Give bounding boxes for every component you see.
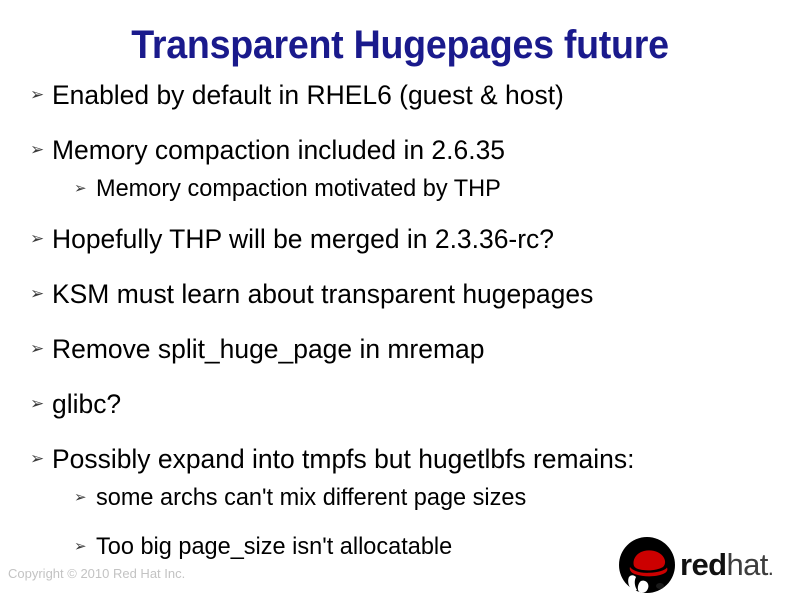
bullet-marker-icon: ➢: [30, 224, 44, 254]
slide: Transparent Hugepages future ➢ Enabled b…: [0, 0, 800, 600]
bullet-marker-icon: ➢: [30, 389, 44, 419]
bullet-text: glibc?: [52, 389, 121, 419]
red-hat-logo: redhat.: [616, 536, 792, 596]
wordmark-hat: hat: [726, 547, 767, 582]
bullet-text: Enabled by default in RHEL6 (guest & hos…: [52, 80, 564, 110]
wordmark-trademark-dot: .: [768, 555, 774, 580]
red-hat-wordmark: redhat.: [680, 548, 773, 585]
bullet-marker-icon: ➢: [74, 484, 87, 511]
sub-bullet-item: ➢ Memory compaction motivated by THP: [0, 175, 800, 202]
bullet-item: ➢ Enabled by default in RHEL6 (guest & h…: [0, 80, 800, 110]
bullet-item: ➢ Memory compaction included in 2.6.35: [0, 135, 800, 165]
bullet-item: ➢ KSM must learn about transparent hugep…: [0, 279, 800, 309]
bullet-text: Memory compaction motivated by THP: [96, 175, 501, 202]
bullet-marker-icon: ➢: [74, 533, 87, 560]
bullet-marker-icon: ➢: [30, 444, 44, 474]
bullet-marker-icon: ➢: [30, 279, 44, 309]
sub-bullet-item: ➢ some archs can't mix different page si…: [0, 484, 800, 511]
bullet-text: Too big page_size isn't allocatable: [96, 533, 452, 560]
bullet-text: Remove split_huge_page in mremap: [52, 334, 484, 364]
red-hat-shadowman-icon: [616, 536, 678, 596]
bullet-text: KSM must learn about transparent hugepag…: [52, 279, 593, 309]
bullet-item: ➢ Possibly expand into tmpfs but hugetlb…: [0, 444, 800, 474]
bullet-item: ➢ Remove split_huge_page in mremap: [0, 334, 800, 364]
bullet-text: Possibly expand into tmpfs but hugetlbfs…: [52, 444, 634, 474]
bullet-text: Hopefully THP will be merged in 2.3.36-r…: [52, 224, 554, 254]
bullet-item: ➢ glibc?: [0, 389, 800, 419]
bullet-marker-icon: ➢: [74, 175, 87, 202]
bullet-marker-icon: ➢: [30, 135, 44, 165]
page-title: Transparent Hugepages future: [24, 22, 776, 68]
bullet-text: Memory compaction included in 2.6.35: [52, 135, 505, 165]
bullet-marker-icon: ➢: [30, 80, 44, 110]
bullet-text: some archs can't mix different page size…: [96, 484, 526, 511]
bullet-marker-icon: ➢: [30, 334, 44, 364]
bullet-item: ➢ Hopefully THP will be merged in 2.3.36…: [0, 224, 800, 254]
copyright-notice: Copyright © 2010 Red Hat Inc.: [8, 566, 185, 582]
wordmark-red: red: [680, 547, 726, 582]
bullet-list: ➢ Enabled by default in RHEL6 (guest & h…: [0, 80, 800, 582]
